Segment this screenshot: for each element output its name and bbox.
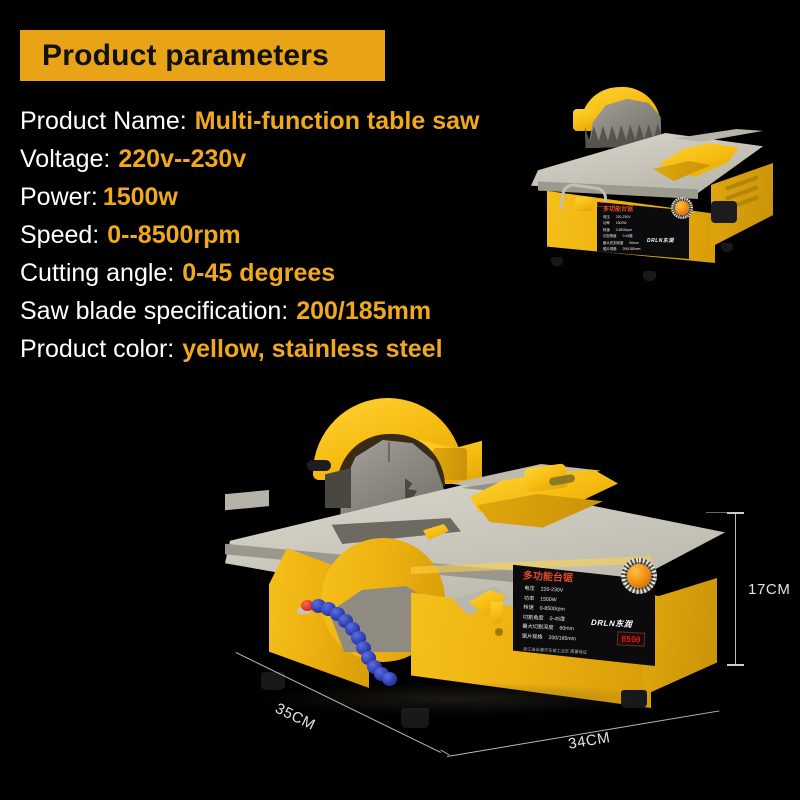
spec-value: Multi-function table saw: [195, 107, 480, 136]
brand-logo: DRLN东润: [591, 617, 633, 630]
spec-row-product-name: Product Name: Multi-function table saw: [20, 107, 580, 145]
plate-rows: 电压220-230V 功率1500W 转速0-8500rpm 切割角度0-45度…: [603, 214, 640, 252]
plate-value: 200/185mm: [548, 634, 576, 645]
brand-logo: DRLN东润: [647, 237, 674, 244]
spec-value: yellow, stainless steel: [182, 335, 442, 364]
spec-row-product-color: Product color: yellow, stainless steel: [20, 335, 580, 373]
led-display: 8500: [617, 631, 646, 646]
spec-label: Cutting angle:: [20, 259, 174, 288]
header-banner: Product parameters: [20, 30, 385, 81]
rubber-foot: [643, 271, 656, 281]
dimension-vertex: [440, 750, 449, 756]
spec-value: 0--8500rpm: [107, 221, 240, 250]
dimension-cap-bottom: [727, 664, 744, 666]
spec-value: 200/185mm: [296, 297, 431, 326]
dimension-label-height: 17CM: [748, 581, 790, 598]
bevel-lock-screw: [495, 628, 503, 636]
page-title: Product parameters: [42, 41, 329, 71]
product-parameters-infographic: Product parameters Product Name: Multi-f…: [0, 0, 800, 800]
spec-label: Product color:: [20, 335, 174, 364]
plate-title: 多功能台锯: [603, 204, 633, 213]
dimension-line-height: [735, 513, 736, 665]
spec-row-saw-blade-specification: Saw blade specification: 200/185mm: [20, 297, 580, 335]
spec-label: Saw blade specification:: [20, 297, 288, 326]
blade-arbor-slot: [388, 442, 390, 462]
blade-teeth-left: [325, 468, 351, 508]
spec-value: 1500w: [103, 183, 178, 212]
spec-row-voltage: Voltage: 220v--230v: [20, 145, 580, 183]
tilt-lock-knob: [575, 197, 593, 211]
plate-key: 电压: [524, 585, 535, 595]
speed-knob[interactable]: [627, 564, 651, 588]
plate-key: 转速: [523, 604, 534, 614]
table-left-lip: [225, 490, 269, 516]
rubber-foot: [721, 243, 733, 252]
spec-label: Product Name:: [20, 107, 187, 136]
motor-housing: [711, 201, 737, 223]
dimension-leader-top: [706, 512, 732, 513]
spec-row-speed: Speed: 0--8500rpm: [20, 221, 580, 259]
product-image-inset: 多功能台锯 电压220-230V 功率1500W 转速0-8500rpm 切割角…: [525, 85, 795, 285]
product-image-main: 多功能台锯 电压 220-230V 功率 1500W 转速 0-8500rpm …: [225, 390, 745, 750]
rubber-foot: [551, 257, 563, 266]
spec-label: Power:: [20, 183, 98, 212]
spec-label: Voltage:: [20, 145, 110, 174]
plate-key: 锯片规格: [522, 633, 543, 644]
plate-key: 功率: [524, 594, 535, 604]
ground-shadow: [255, 682, 655, 716]
spec-row-power: Power: 1500w: [20, 183, 580, 221]
plate-rows: 电压 220-230V 功率 1500W 转速 0-8500rpm 切割角度 0…: [522, 585, 579, 645]
spec-list: Product Name: Multi-function table saw V…: [20, 107, 580, 373]
spec-row-cutting-angle: Cutting angle: 0-45 degrees: [20, 259, 580, 297]
spec-label: Speed:: [20, 221, 99, 250]
bevel-lock-tail: [491, 602, 503, 624]
spec-value: 0-45 degrees: [182, 259, 335, 288]
speed-knob[interactable]: [675, 201, 689, 215]
guard-pivot-bolt: [307, 460, 331, 471]
spec-value: 220v--230v: [118, 145, 246, 174]
